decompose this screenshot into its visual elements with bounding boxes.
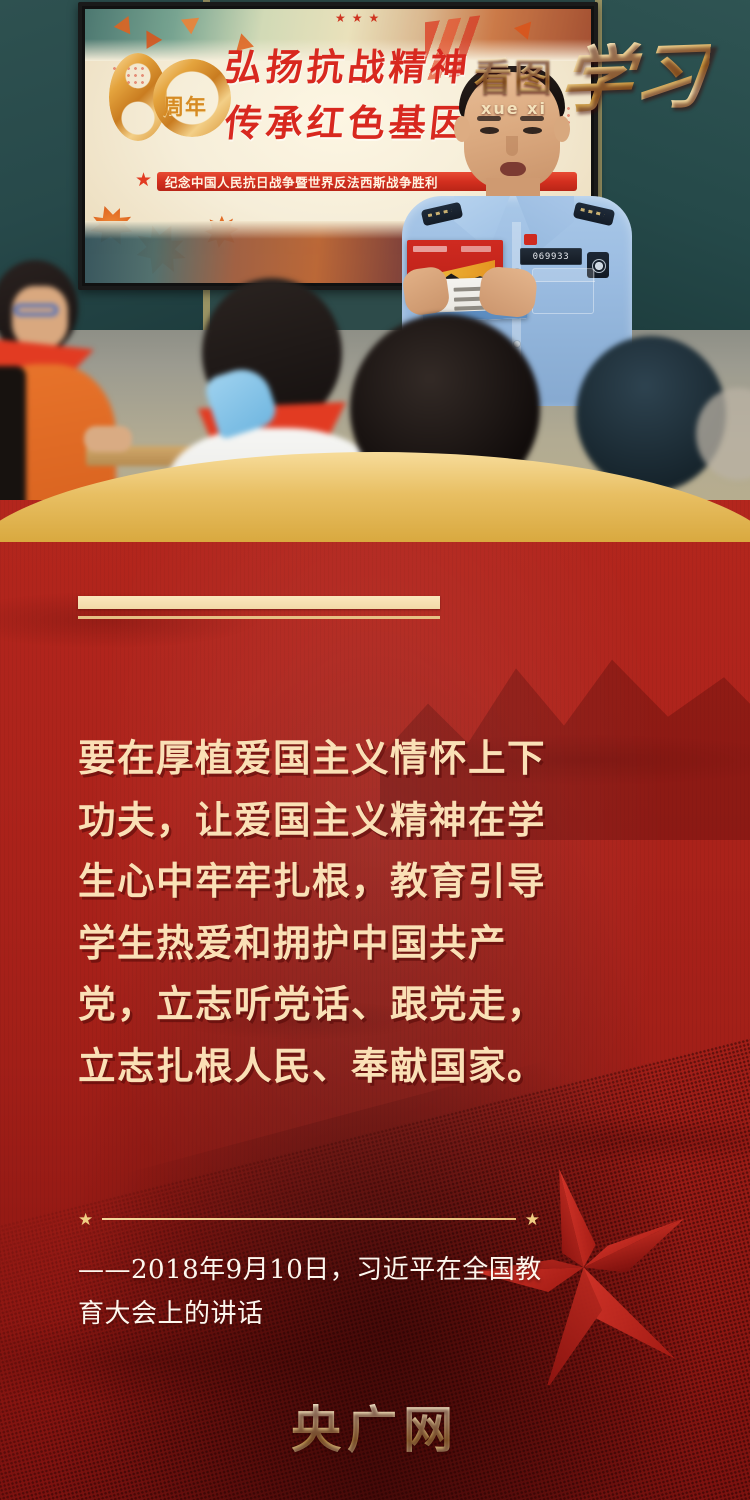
- anniversary-unit-label: 周年: [163, 91, 207, 121]
- logo-kantu-text: 看图: [474, 57, 554, 97]
- student-hand: [84, 426, 132, 452]
- attribution-text: ——2018年9月10日，习近平在全国教育大会上的讲话: [78, 1248, 568, 1336]
- anniversary-mark: 周年: [107, 45, 239, 149]
- quote-line: 生心中牢牢扎根，教育引导: [78, 851, 678, 913]
- poster-root: ★★★ 周年 弘扬抗: [0, 0, 750, 1500]
- officer-nose: [506, 136, 518, 156]
- quote-line: 功夫，让爱国主义精神在学: [78, 790, 678, 852]
- gold-rule-thick: [78, 596, 440, 609]
- attribution-rule-bar: [102, 1218, 516, 1220]
- party-emblem-pin: [524, 234, 537, 245]
- quote-line: 学生热爱和拥护中国共产: [78, 913, 678, 975]
- quote-line: 立志扎根人民、奉献国家。: [78, 1036, 678, 1098]
- star-row-decoration: ★★★: [335, 11, 385, 25]
- quote-line: 要在厚植爱国主义情怀上下: [78, 728, 678, 790]
- gold-rule-thin: [78, 616, 440, 619]
- officer-eye-right: [523, 127, 542, 134]
- gold-rule-divider: [78, 596, 440, 619]
- footer-brand-text: 央广网: [291, 1401, 459, 1459]
- eyeglasses-icon: [14, 304, 58, 316]
- officer-ear-left: [454, 116, 470, 142]
- gold-curve-shape: [0, 452, 750, 542]
- logo-kantu-block: 看图 xue xi: [474, 57, 554, 118]
- banner-ribbon-text: 纪念中国人民抗日战争暨世界反法西斯战争胜利: [165, 172, 438, 191]
- quote-block: 要在厚植爱国主义情怀上下 功夫，让爱国主义精神在学 生心中牢牢扎根，教育引导 学…: [78, 728, 678, 1097]
- officer-mouth: [500, 162, 526, 176]
- kantu-xuexi-logo: 看图 xue xi 学习: [474, 42, 708, 118]
- star-icon-right: ★: [525, 1211, 540, 1228]
- gold-curve-divider: [0, 452, 750, 542]
- logo-xuexi-calligraphy: 学习: [557, 39, 712, 116]
- quote-line: 党，立志听党话、跟党走，: [78, 974, 678, 1036]
- footer-brand-logo: 央广网: [0, 1390, 750, 1462]
- logo-pinyin-text: xue xi: [481, 99, 547, 118]
- student-face: [12, 286, 68, 348]
- star-icon-left: ★: [78, 1211, 93, 1228]
- officer-eye-left: [480, 127, 499, 134]
- attribution-divider: ★ ★: [78, 1212, 540, 1226]
